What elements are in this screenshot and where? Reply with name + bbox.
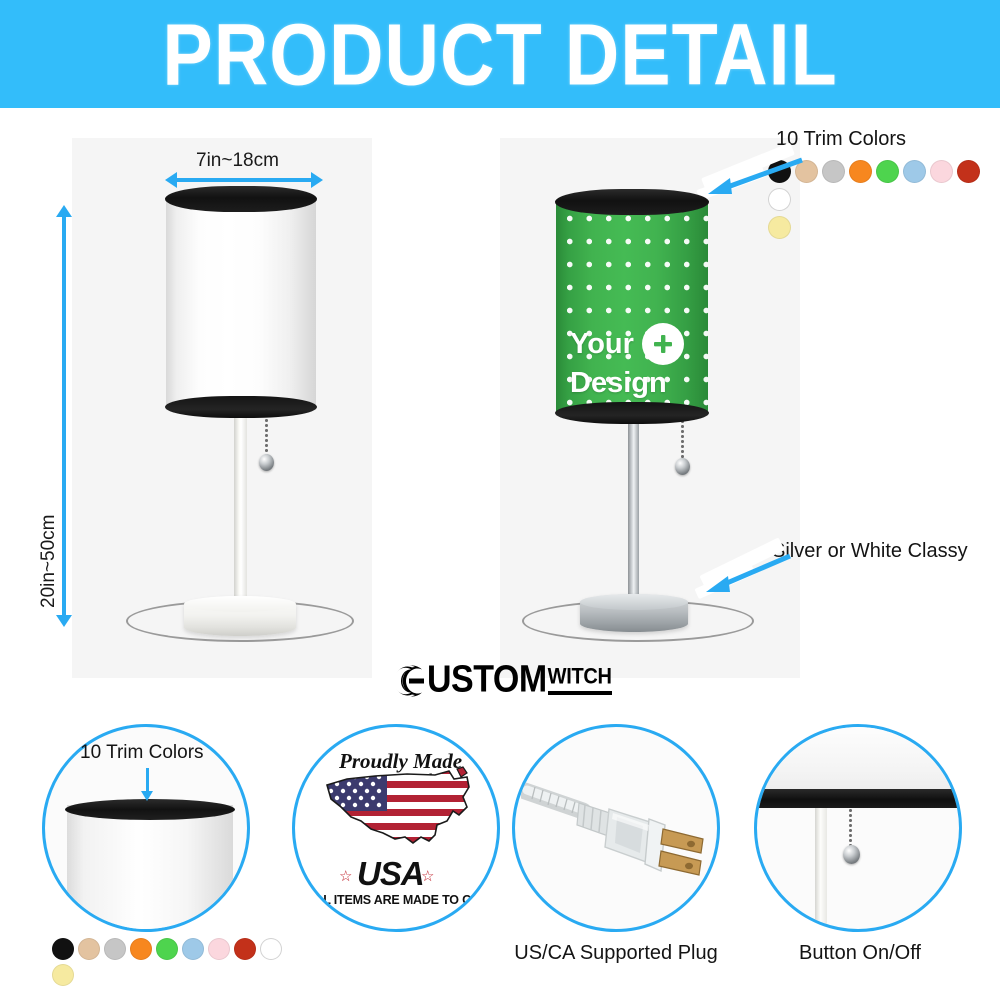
- trim-swatch-pink[interactable]: [208, 938, 230, 960]
- lamp-base-silver: [580, 594, 688, 632]
- trim-swatch-dark-red[interactable]: [234, 938, 256, 960]
- trim-swatch-yellow[interactable]: [768, 216, 791, 239]
- switch-pole: [815, 808, 827, 932]
- switch-trim-bar: [754, 789, 962, 808]
- usa-badge-sub: ALL ITEMS ARE MADE TO ORDER!: [307, 893, 500, 907]
- usa-badge-big: USA: [357, 855, 424, 893]
- logo-primary-text: USTOM: [427, 661, 547, 697]
- trim-swatch-green[interactable]: [876, 160, 899, 183]
- main-stage: 7in~18cm 20in~50cm: [0, 108, 1000, 660]
- switch-pull-chain[interactable]: [849, 808, 852, 850]
- logo-secondary: WITCH: [548, 668, 612, 695]
- trim-swatch-gray[interactable]: [104, 938, 126, 960]
- design-placeholder: Your Design: [570, 323, 708, 400]
- height-dimension-label: 20in~50cm: [38, 515, 60, 608]
- shade-trim-bottom-white: [165, 396, 317, 418]
- base-top-white: [184, 596, 296, 612]
- trim-swatch-yellow[interactable]: [52, 964, 74, 986]
- usa-star-left: ☆: [339, 867, 352, 885]
- usa-badge: Proudly Made in the: [295, 727, 500, 932]
- width-dimension-arrow: [176, 178, 312, 182]
- feature-switch-circle: [754, 724, 962, 932]
- feature-usa-circle: Proudly Made in the: [292, 724, 500, 932]
- switch-chain-ball[interactable]: [843, 845, 860, 864]
- brand-logo: USTOM WITCH: [392, 662, 612, 700]
- trim-swatch-tan[interactable]: [78, 938, 100, 960]
- feature-trim-colors-label: 10 Trim Colors: [80, 742, 204, 764]
- product-detail-infographic: PRODUCT DETAIL 7in~18cm 20in~50cm: [0, 0, 1000, 1000]
- design-line-2: Design: [570, 367, 708, 400]
- shade-trim-bottom-green: [555, 402, 709, 424]
- shade-trim-top-green: [555, 189, 709, 215]
- trim-swatch-dark-red[interactable]: [957, 160, 980, 183]
- trim-swatch-light-blue[interactable]: [903, 160, 926, 183]
- trim-pointer-arrow: [694, 156, 814, 200]
- lamp-base-white: [184, 596, 296, 636]
- usa-map-flag-icon: [317, 763, 485, 859]
- plus-icon[interactable]: [642, 323, 684, 365]
- page-title: PRODUCT DETAIL: [162, 4, 837, 104]
- feature-plug-caption: US/CA Supported Plug: [492, 942, 740, 965]
- trim-swatch-white[interactable]: [260, 938, 282, 960]
- pull-chain-ball-green[interactable]: [675, 458, 690, 475]
- trim-swatch-light-blue[interactable]: [182, 938, 204, 960]
- trim-swatch-orange[interactable]: [849, 160, 872, 183]
- pull-chain-ball-white[interactable]: [259, 454, 274, 471]
- arrow-glyph-base: [706, 556, 790, 592]
- feature-switch-caption: Button On/Off: [736, 942, 984, 965]
- trim-swatch-black[interactable]: [52, 938, 74, 960]
- feature-plug-circle: [512, 724, 720, 932]
- shade-surface-green: Your Design: [556, 201, 708, 416]
- trim-swatch-orange[interactable]: [130, 938, 152, 960]
- trim-colors-label-top: 10 Trim Colors: [776, 128, 906, 151]
- lamp-pole-white: [234, 408, 247, 606]
- trim-swatch-green[interactable]: [156, 938, 178, 960]
- lamp-pole-silver: [628, 418, 639, 604]
- base-pointer-arrow: [694, 550, 798, 600]
- power-plug-icon: [521, 759, 720, 909]
- arrow-glyph: [708, 160, 802, 194]
- shade-trim-top-white: [165, 186, 317, 212]
- trim-swatch-pink[interactable]: [930, 160, 953, 183]
- width-dimension-label: 7in~18cm: [196, 150, 279, 172]
- switch-shade-edge: [754, 724, 962, 793]
- shade-closeup-trim: [65, 799, 235, 820]
- base-top-silver: [580, 594, 688, 610]
- trim-color-swatches-bottom[interactable]: [52, 938, 302, 990]
- logo-underline: [548, 691, 612, 695]
- shade-surface-white: [166, 198, 316, 410]
- logo-secondary-text: WITCH: [548, 666, 612, 688]
- trim-swatch-gray[interactable]: [822, 160, 845, 183]
- page-header: PRODUCT DETAIL: [0, 0, 1000, 108]
- lamp-shade-green: Your Design: [556, 201, 708, 416]
- design-line-1: Your: [570, 328, 634, 361]
- feature-trim-colors-arrow: [146, 768, 149, 792]
- c-mark-icon: [392, 662, 426, 700]
- base-finish-label: Silver or White Classy: [772, 540, 968, 563]
- height-dimension-arrow: [62, 216, 66, 616]
- usa-star-right: ☆: [421, 867, 434, 885]
- lamp-shade-white: [166, 198, 316, 410]
- shade-closeup-body: [67, 805, 233, 932]
